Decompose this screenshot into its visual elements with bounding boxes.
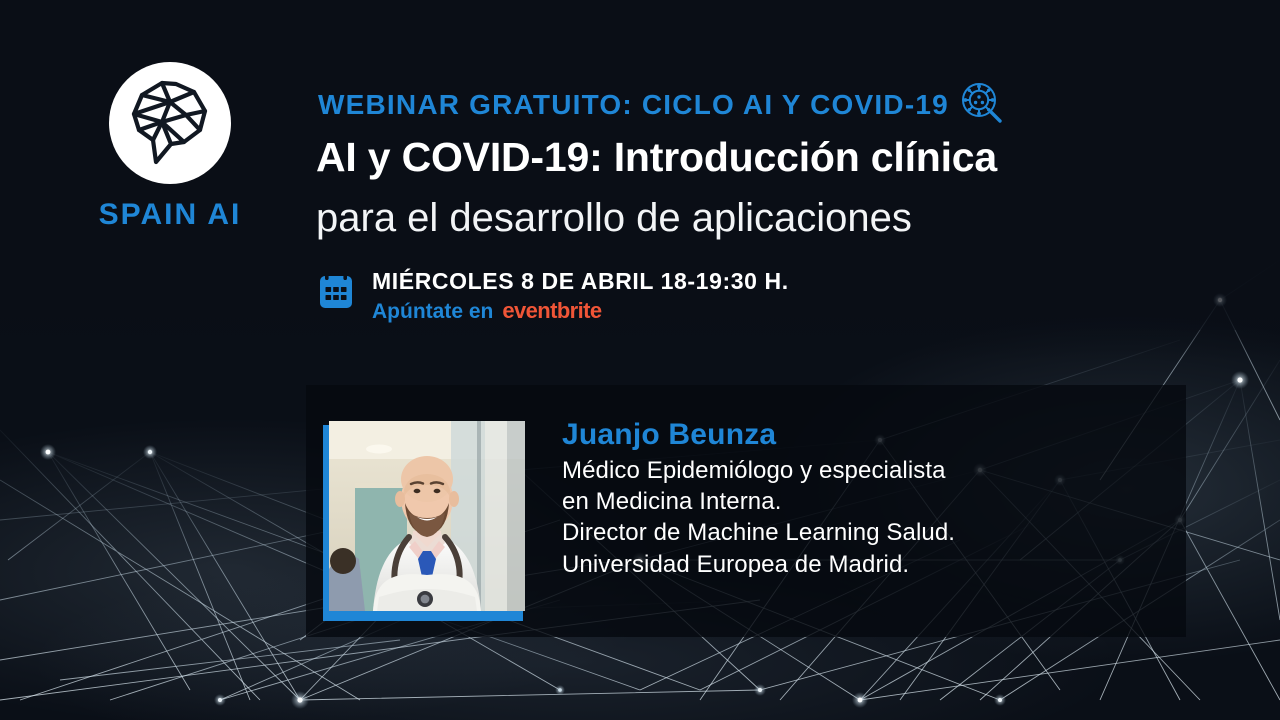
speaker-info: Juanjo Beunza Médico Epidemiólogo y espe… xyxy=(562,418,1182,580)
speaker-name: Juanjo Beunza xyxy=(562,418,1182,451)
page-subtitle: para el desarrollo de aplicaciones xyxy=(316,196,912,241)
virus-magnifier-icon xyxy=(959,80,1005,126)
signup-line[interactable]: Apúntate en eventbrite xyxy=(372,298,789,324)
brain-network-speech-bubble-icon xyxy=(109,62,231,184)
calendar-icon xyxy=(316,272,356,312)
speaker-bio-line: Universidad Europea de Madrid. xyxy=(562,549,1182,580)
signup-label: Apúntate en xyxy=(372,300,493,324)
event-date-text: MIÉRCOLES 8 DE ABRIL 18-19:30 H. xyxy=(372,268,789,295)
speaker-bio-line: en Medicina Interna. xyxy=(562,486,1182,517)
eyebrow-heading: WEBINAR GRATUITO: CICLO AI Y COVID-19 xyxy=(318,84,1005,126)
logo-wordmark: SPAIN AI xyxy=(80,198,260,232)
spain-ai-logo: SPAIN AI xyxy=(80,62,260,232)
speaker-photo-frame xyxy=(329,421,529,617)
event-date-row: MIÉRCOLES 8 DE ABRIL 18-19:30 H. Apúntat… xyxy=(316,268,789,324)
speaker-portrait xyxy=(329,421,525,611)
eventbrite-logo[interactable]: eventbrite xyxy=(502,298,601,324)
speaker-bio-line: Médico Epidemiólogo y especialista xyxy=(562,455,1182,486)
eyebrow-label: WEBINAR GRATUITO: CICLO AI Y COVID-19 xyxy=(318,89,949,121)
page-title: AI y COVID-19: Introducción clínica xyxy=(316,134,997,181)
speaker-bio-line: Director de Machine Learning Salud. xyxy=(562,517,1182,548)
slide-canvas: SPAIN AI WEBINAR GRATUITO: CICLO AI Y CO… xyxy=(0,0,1280,720)
